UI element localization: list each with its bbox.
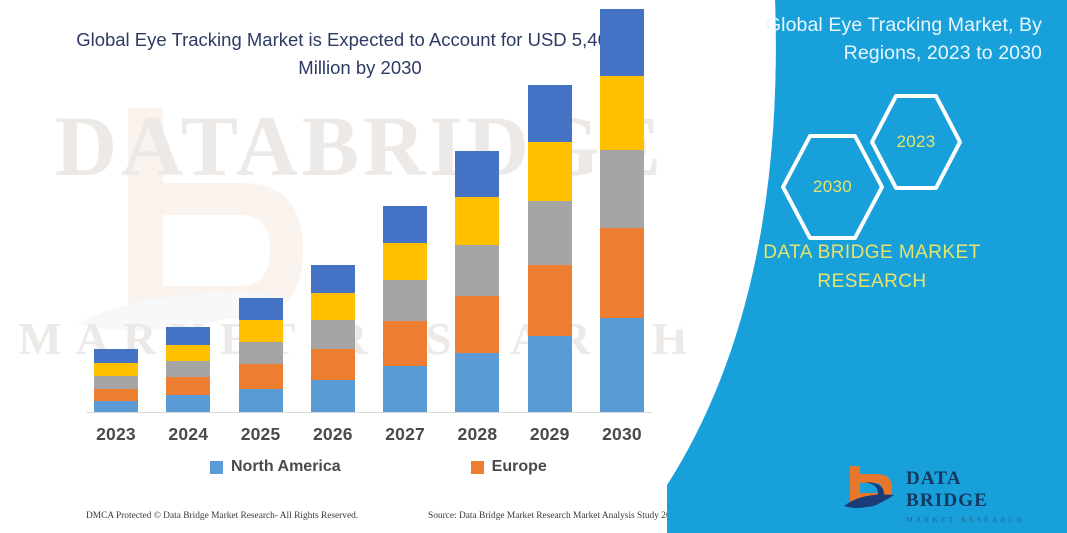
bar-column [86, 116, 146, 412]
bar-segment [94, 349, 138, 363]
stacked-bar [311, 265, 355, 412]
bar-segment [528, 85, 572, 141]
brand-name: DATA BRIDGE MARKET RESEARCH [707, 238, 1037, 297]
x-axis-label: 2029 [520, 424, 580, 450]
bar-segment [383, 321, 427, 366]
bar-segment [239, 364, 283, 388]
legend-label: North America [231, 458, 341, 476]
bar-segment [311, 320, 355, 349]
x-axis-labels: 20232024202520262027202820292030 [86, 424, 652, 450]
stacked-bar [455, 151, 499, 412]
hex-badge-2023-label: 2023 [896, 132, 935, 152]
bar-segment [455, 151, 499, 197]
x-axis-label: 2025 [231, 424, 291, 450]
bar-segment [383, 243, 427, 281]
data-bridge-logo-icon [842, 462, 902, 514]
hex-badges: 2023 2030 [667, 92, 1067, 222]
footer-copyright: DMCA Protected © Data Bridge Market Rese… [86, 511, 358, 521]
bar-segment [383, 206, 427, 243]
bar-segment [94, 401, 138, 412]
x-axis-label: 2026 [303, 424, 363, 450]
stacked-bar [94, 349, 138, 412]
bar-segment [311, 293, 355, 321]
legend-item: Europe [471, 458, 547, 476]
plot-area [86, 116, 652, 412]
bar-segment [166, 395, 210, 412]
infographic-root: Global Eye Tracking Market is Expected t… [0, 0, 1067, 533]
bar-segment [455, 296, 499, 353]
right-panel: Global Eye Tracking Market, By Regions, … [667, 0, 1067, 533]
page-title: Global Eye Tracking Market is Expected t… [60, 26, 660, 82]
bar-segment [600, 9, 644, 76]
bar-segment [528, 336, 572, 412]
bar-segment [600, 150, 644, 229]
bar-segment [94, 389, 138, 401]
logo-main-text: DATA BRIDGE [906, 468, 1047, 512]
bar-segment [455, 353, 499, 412]
logo-sub-text: MARKET RESEARCH [906, 515, 1047, 524]
bar-segment [311, 265, 355, 293]
bar-segment [528, 265, 572, 336]
x-axis-label: 2028 [447, 424, 507, 450]
bar-segment [94, 363, 138, 376]
bar-segment [239, 298, 283, 320]
stacked-bar [383, 206, 427, 412]
bar-segment [600, 228, 644, 318]
panel-title: Global Eye Tracking Market, By Regions, … [697, 12, 1042, 67]
bar-segment [311, 380, 355, 412]
bar-segment [239, 320, 283, 341]
bar-segment [311, 349, 355, 381]
dbmr-logo: DATA BRIDGE MARKET RESEARCH [842, 460, 1047, 518]
bar-segment [383, 280, 427, 321]
chart-legend: North AmericaEurope [150, 455, 620, 479]
hex-badge-2030-label: 2030 [813, 177, 852, 197]
legend-item: North America [210, 458, 341, 476]
chart-area: Global Eye Tracking Market is Expected t… [0, 0, 720, 533]
logo-wordmark: DATA BRIDGE MARKET RESEARCH [906, 468, 1047, 524]
bar-segment [166, 377, 210, 394]
bar-segment [528, 201, 572, 265]
legend-swatch [471, 461, 484, 474]
bar-column [158, 116, 218, 412]
stacked-bar [239, 298, 283, 412]
legend-label: Europe [492, 458, 547, 476]
bar-segment [600, 318, 644, 412]
bar-segment [94, 376, 138, 388]
bar-segment [166, 345, 210, 361]
footer-source: Source: Data Bridge Market Research Mark… [428, 511, 680, 521]
stacked-bar [600, 9, 644, 412]
stacked-bar [166, 327, 210, 412]
footer: DMCA Protected © Data Bridge Market Rese… [0, 505, 706, 527]
x-axis-label: 2030 [592, 424, 652, 450]
bar-segment [455, 245, 499, 296]
bar-column [375, 116, 435, 412]
stacked-bar [528, 85, 572, 412]
panel-content: Global Eye Tracking Market, By Regions, … [667, 0, 1067, 533]
bar-group [86, 116, 652, 412]
bar-segment [239, 342, 283, 364]
bar-column [520, 116, 580, 412]
bar-segment [600, 76, 644, 149]
bar-column [592, 116, 652, 412]
bar-column [447, 116, 507, 412]
x-axis-label: 2024 [158, 424, 218, 450]
bar-segment [239, 389, 283, 412]
bar-segment [455, 197, 499, 245]
bar-segment [166, 327, 210, 344]
bar-segment [383, 366, 427, 412]
bar-segment [528, 142, 572, 201]
legend-swatch [210, 461, 223, 474]
x-axis-line [86, 412, 652, 413]
bar-column [303, 116, 363, 412]
bar-column [231, 116, 291, 412]
x-axis-label: 2027 [375, 424, 435, 450]
hex-badge-2030: 2030 [779, 132, 886, 242]
x-axis-label: 2023 [86, 424, 146, 450]
bar-segment [166, 361, 210, 377]
